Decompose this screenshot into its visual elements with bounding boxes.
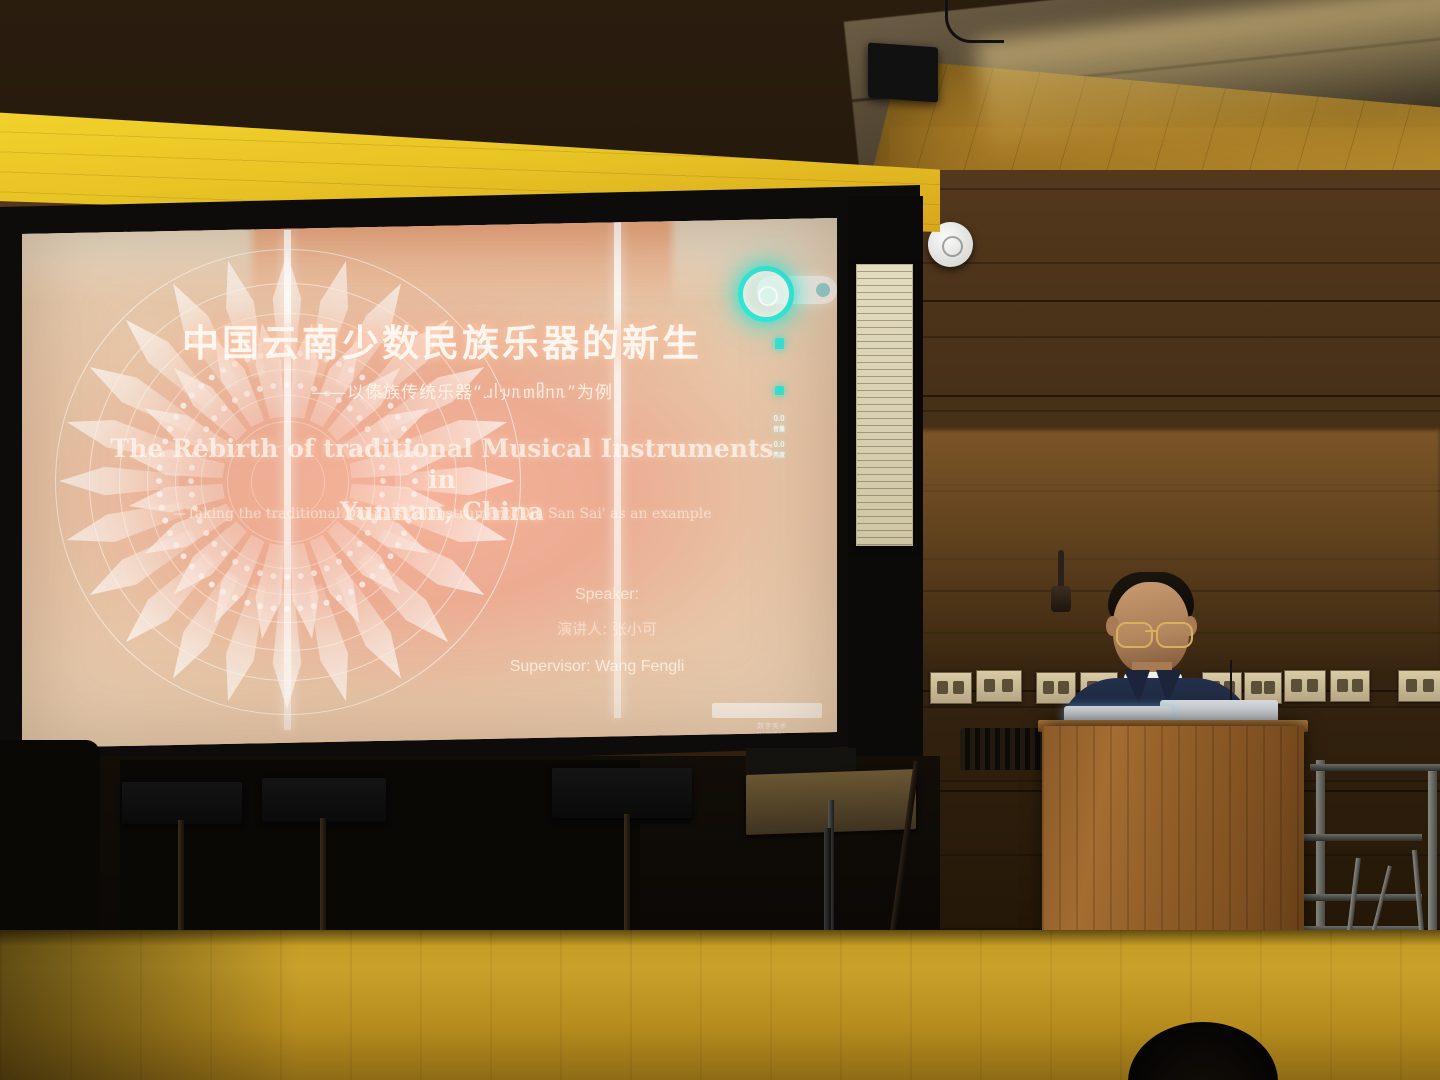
music-stand-desk bbox=[262, 778, 386, 822]
wall-outlet-plate[interactable] bbox=[1330, 670, 1370, 702]
wall-outlet-plate[interactable] bbox=[1398, 670, 1440, 702]
screen-vignette bbox=[22, 218, 837, 748]
rack-shelf bbox=[1292, 894, 1422, 901]
acoustic-panel bbox=[856, 264, 913, 546]
presenter-glasses-left-lens bbox=[1116, 622, 1153, 648]
presentation-room-photo: 中国云南少数民族乐器的新生 ——以傣族传统乐器“ᥘᥣᥭᥰᥖᥤᥒᥰ”为例 The … bbox=[0, 0, 1440, 1080]
floor-left-shadow bbox=[0, 930, 300, 1080]
wall-outlet-plate[interactable] bbox=[1036, 672, 1076, 704]
wall-outlet-plate[interactable] bbox=[930, 672, 972, 704]
music-stand-desk bbox=[552, 768, 692, 818]
rack-shelf bbox=[1292, 834, 1422, 841]
wall-mic-head bbox=[1051, 586, 1071, 612]
ceiling-speaker bbox=[868, 43, 938, 103]
floor-edge-shadow bbox=[0, 930, 1440, 946]
rack-shelf bbox=[1310, 764, 1440, 771]
projection-screen: 中国云南少数民族乐器的新生 ——以傣族传统乐器“ᥘᥣᥭᥰᥖᥤᥒᥰ”为例 The … bbox=[22, 218, 837, 748]
wall-outlet-plate[interactable] bbox=[1284, 670, 1326, 702]
wall-outlet-plate[interactable] bbox=[976, 670, 1022, 702]
speaker-cable bbox=[945, 0, 1004, 43]
music-stand-desk bbox=[122, 782, 242, 824]
presenter-glasses-bridge bbox=[1145, 630, 1158, 632]
presenter-glasses-right-lens bbox=[1156, 622, 1193, 648]
